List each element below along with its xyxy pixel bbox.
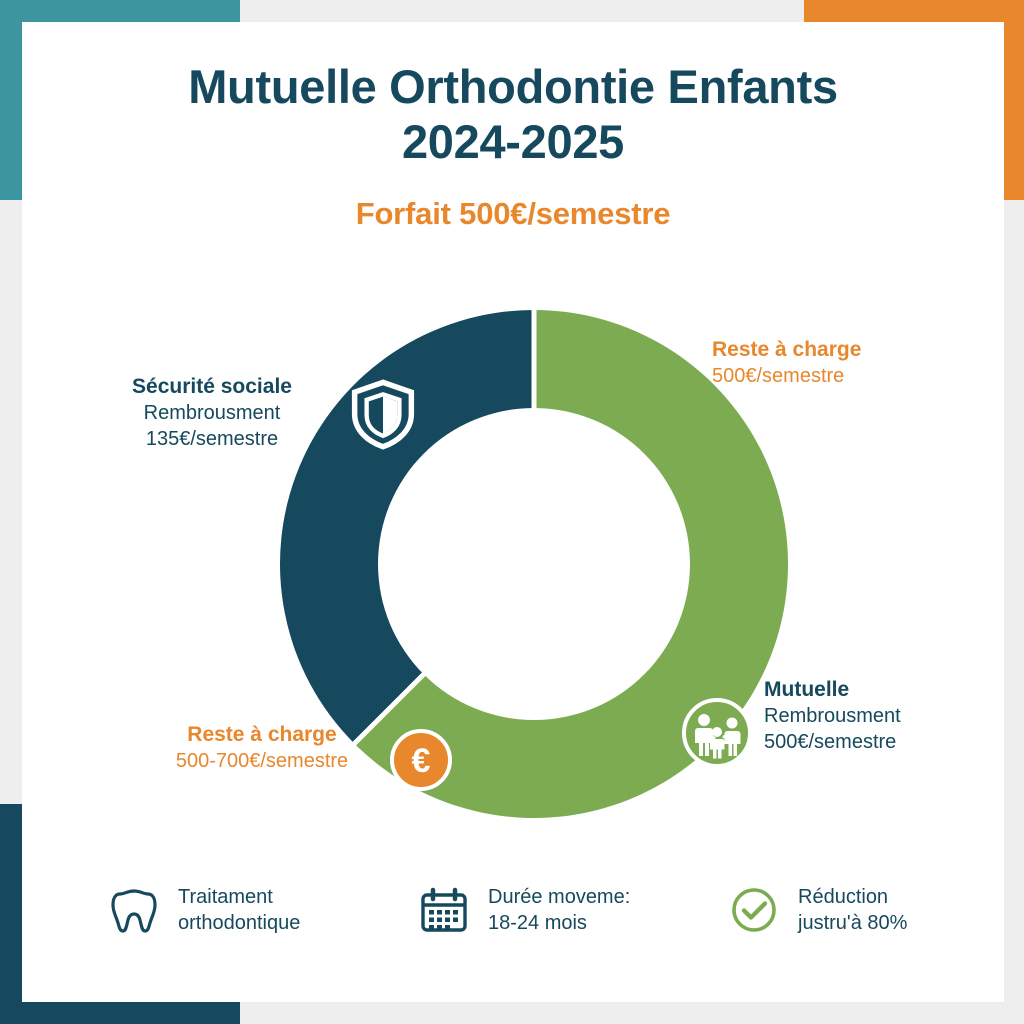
feature-duree-moyenne-text: Durée moveme: 18-24 mois bbox=[488, 884, 630, 937]
callout-mutuelle: Mutuelle Rembrousment 500€/semestre bbox=[764, 677, 1014, 755]
calendar-icon bbox=[418, 884, 470, 936]
callout-securite-sociale-line1: Rembrousment bbox=[82, 400, 342, 426]
corner-accent-bottom-left-horizontal bbox=[0, 1002, 240, 1024]
infographic-poster: Mutuelle Orthodontie Enfants 2024-2025 F… bbox=[0, 0, 1024, 1024]
page-title-line2: 2024-2025 bbox=[402, 115, 624, 168]
callout-reste-a-charge-bottom: Reste à charge 500-700€/semestre bbox=[132, 722, 392, 774]
donut-hole bbox=[378, 408, 690, 720]
callout-reste-a-charge-top: Reste à charge 500€/semestre bbox=[712, 337, 982, 389]
header: Mutuelle Orthodontie Enfants 2024-2025 F… bbox=[22, 60, 1004, 232]
corner-accent-top-left-vertical bbox=[0, 0, 22, 200]
feature-line2: justru'à 80% bbox=[798, 912, 907, 934]
feature-traitement-orthodontique-text: Traitament orthodontique bbox=[178, 884, 300, 937]
feature-line2: 18-24 mois bbox=[488, 912, 587, 934]
feature-reduction: Réduction justru'à 80% bbox=[728, 884, 988, 937]
shield-icon bbox=[348, 378, 418, 450]
callout-securite-sociale-line2: 135€/semestre bbox=[82, 426, 342, 452]
corner-accent-top-right-horizontal bbox=[804, 0, 1024, 22]
feature-traitement-orthodontique: Traitament orthodontique bbox=[108, 884, 418, 937]
corner-accent-bottom-left-vertical bbox=[0, 804, 22, 1024]
euro-icon: € bbox=[389, 728, 453, 792]
feature-line1: Réduction bbox=[798, 886, 888, 908]
family-icon bbox=[680, 696, 754, 770]
page-title-line1: Mutuelle Orthodontie Enfants bbox=[188, 60, 838, 113]
feature-line1: Traitament bbox=[178, 886, 273, 908]
callout-securite-sociale-title: Sécurité sociale bbox=[82, 374, 342, 400]
tooth-icon bbox=[108, 884, 160, 936]
callout-mutuelle-title: Mutuelle bbox=[764, 677, 1014, 703]
callout-mutuelle-line2: 500€/semestre bbox=[764, 729, 1014, 755]
feature-line1: Durée moveme: bbox=[488, 886, 630, 908]
content-card: Mutuelle Orthodontie Enfants 2024-2025 F… bbox=[22, 22, 1004, 1002]
corner-accent-top-left-horizontal bbox=[0, 0, 240, 22]
page-subtitle: Forfait 500€/semestre bbox=[22, 196, 1004, 232]
callout-reste-a-charge-top-line1: 500€/semestre bbox=[712, 363, 982, 389]
corner-accent-top-right-vertical bbox=[1004, 0, 1024, 200]
feature-line2: orthodontique bbox=[178, 912, 300, 934]
callout-reste-a-charge-top-title: Reste à charge bbox=[712, 337, 982, 363]
svg-text:€: € bbox=[412, 742, 431, 780]
callout-mutuelle-line1: Rembrousment bbox=[764, 703, 1014, 729]
feature-row: Traitament orthodontique bbox=[108, 884, 988, 937]
check-circle-icon bbox=[728, 884, 780, 936]
feature-duree-moyenne: Durée moveme: 18-24 mois bbox=[418, 884, 728, 937]
callout-securite-sociale: Sécurité sociale Rembrousment 135€/semes… bbox=[82, 374, 342, 452]
page-title: Mutuelle Orthodontie Enfants 2024-2025 bbox=[22, 60, 1004, 170]
callout-reste-a-charge-bottom-line1: 500-700€/semestre bbox=[132, 748, 392, 774]
callout-reste-a-charge-bottom-title: Reste à charge bbox=[132, 722, 392, 748]
feature-reduction-text: Réduction justru'à 80% bbox=[798, 884, 907, 937]
